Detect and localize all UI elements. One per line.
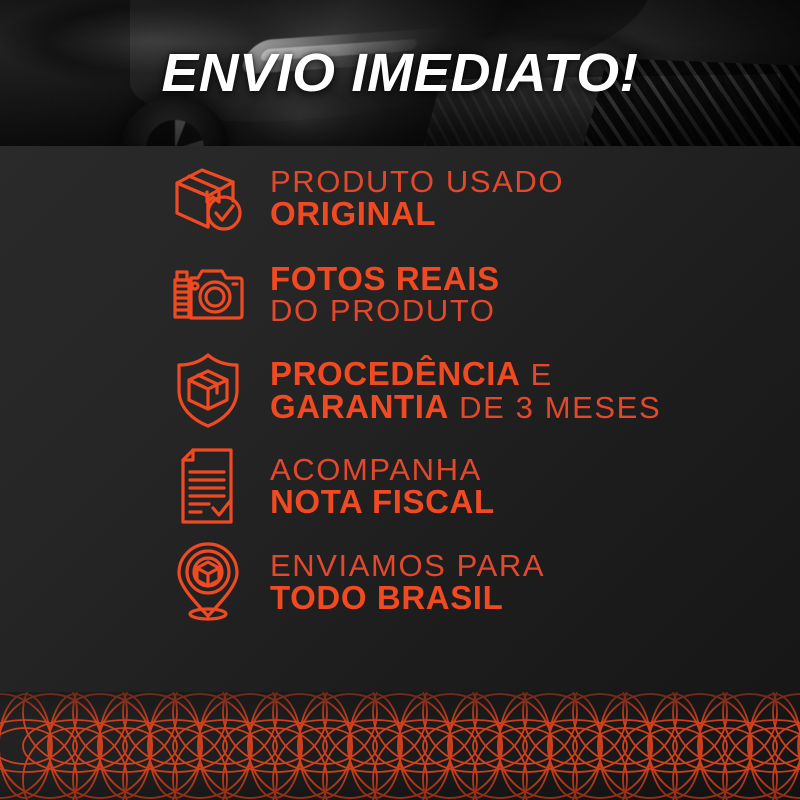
feature-line-2: TODO BRASIL <box>270 581 545 614</box>
feature-line-1: PROCEDÊNCIA E <box>270 357 661 390</box>
shield-box-icon <box>160 348 256 432</box>
camera-icon <box>160 252 256 336</box>
feature-text: FOTOS REAIS DO PRODUTO <box>270 262 500 326</box>
feature-line-1: ENVIAMOS PARA <box>270 550 545 581</box>
feature-list: PRODUTO USADO ORIGINAL <box>0 150 800 630</box>
feature-row-todo-brasil: ENVIAMOS PARA TODO BRASIL <box>0 534 800 630</box>
feature-text: PRODUTO USADO ORIGINAL <box>270 166 564 230</box>
feature-row-nota-fiscal: ACOMPANHA NOTA FISCAL <box>0 438 800 534</box>
feature-line-2: DO PRODUTO <box>270 295 500 326</box>
footer-ornament-pattern <box>0 692 800 800</box>
map-pin-box-icon <box>160 540 256 624</box>
box-check-icon <box>160 156 256 240</box>
feature-text: PROCEDÊNCIA E GARANTIA DE 3 MESES <box>270 357 661 423</box>
hero-header: ENVIO IMEDIATO! <box>0 0 800 146</box>
page-title: ENVIO IMEDIATO! <box>0 44 800 102</box>
feature-line-2: GARANTIA DE 3 MESES <box>270 390 661 423</box>
feature-line-2: NOTA FISCAL <box>270 485 495 518</box>
feature-line-2: ORIGINAL <box>270 197 564 230</box>
invoice-check-icon <box>160 444 256 528</box>
feature-row-fotos-reais: FOTOS REAIS DO PRODUTO <box>0 246 800 342</box>
feature-text: ACOMPANHA NOTA FISCAL <box>270 454 495 518</box>
feature-row-procedencia-garantia: PROCEDÊNCIA E GARANTIA DE 3 MESES <box>0 342 800 438</box>
feature-text: ENVIAMOS PARA TODO BRASIL <box>270 550 545 614</box>
feature-line-1: PRODUTO USADO <box>270 166 564 197</box>
feature-line-1: FOTOS REAIS <box>270 262 500 295</box>
promo-banner: ENVIO IMEDIATO! PRODUTO USADO <box>0 0 800 800</box>
feature-row-produto-usado: PRODUTO USADO ORIGINAL <box>0 150 800 246</box>
feature-line-1: ACOMPANHA <box>270 454 495 485</box>
